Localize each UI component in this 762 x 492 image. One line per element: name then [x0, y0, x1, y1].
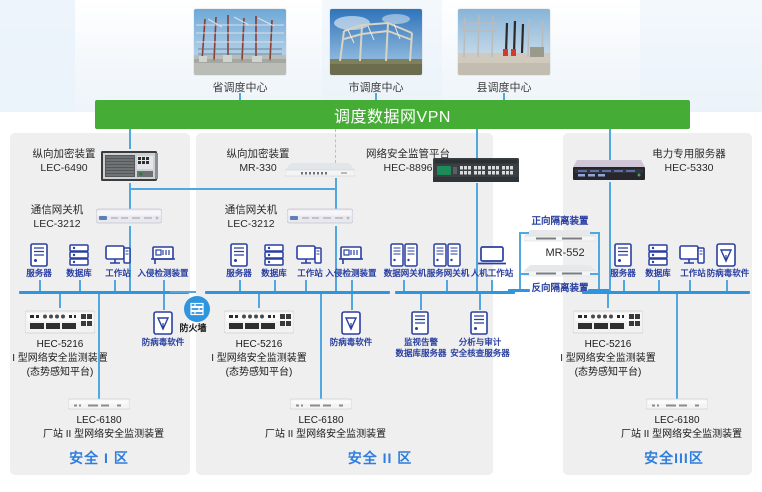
label-z2-gateway: 通信网关机 LEC-3212 — [203, 203, 299, 231]
device-image-hec-5216-z2 — [224, 310, 294, 334]
link-vpn-to-z2-crypto-dashed — [335, 129, 336, 163]
photo-county-dispatch-center — [458, 9, 550, 75]
antivirus-icon[interactable] — [152, 311, 174, 335]
zone-label-1: 安全 I 区 — [59, 448, 139, 468]
link-z1-to-z2-crypto-bus — [129, 188, 335, 190]
vpn-label: 调度数据网VPN — [334, 103, 451, 127]
label-z2-hec5216: HEC-5216 I 型网络安全监测装置 (态势感知平台) — [204, 338, 314, 380]
antivirus-icon[interactable] — [715, 243, 737, 267]
icon-label-intrusion-z1: 入侵检测装置 — [128, 268, 198, 279]
device-image-lec-6180-z2 — [290, 398, 352, 410]
label-z1-lec6180: LEC-6180 厂站 II 型网络安全监测装置 — [43, 414, 155, 442]
device-image-lec-3212-z1 — [96, 206, 162, 226]
label-z2-platform: 网络安全监管平台 HEC-8896 — [348, 147, 468, 175]
workstation-icon[interactable] — [105, 244, 131, 267]
database-icon[interactable] — [263, 243, 285, 267]
link-bus-to-z3-hec5216 — [607, 294, 609, 308]
laptop-icon[interactable] — [478, 246, 506, 266]
dual-server-icon[interactable] — [433, 243, 461, 267]
label-z3-lec6180: LEC-6180 厂站 II 型网络安全监测装置 — [621, 414, 733, 442]
icon-label-antivirus-z3: 防病毒软件 — [702, 268, 754, 279]
vpn-backbone-bar: 调度数据网VPN — [95, 100, 690, 129]
label-mr-552: MR-552 — [515, 247, 615, 259]
link-z1-bus-to-firewall — [170, 291, 196, 293]
link-bus-to-z3-lec6180 — [676, 294, 678, 400]
link-bus-to-z2-lec6180 — [320, 294, 322, 400]
device-image-mr-552-reverse — [524, 263, 596, 277]
link-bus-to-monitor-db — [420, 294, 422, 310]
server-icon[interactable] — [469, 311, 489, 335]
link-bus-to-z1-antivirus — [163, 294, 165, 310]
server-icon[interactable] — [613, 243, 633, 267]
iso-left-rail — [519, 232, 521, 274]
label-z2-lec6180: LEC-6180 厂站 II 型网络安全监测装置 — [265, 414, 377, 442]
workstation-icon[interactable] — [296, 244, 322, 267]
device-image-lec-6180-z3 — [646, 398, 708, 410]
link-bus-to-z2-antivirus — [351, 294, 353, 310]
device-image-hec-5216-z1 — [25, 310, 95, 334]
zone-label-2: 安全 II 区 — [340, 448, 420, 468]
device-image-mr-552-forward — [524, 228, 596, 242]
firewall-icon[interactable] — [184, 296, 210, 322]
label-forward-isolation: 正向隔离装置 — [505, 213, 615, 227]
intrusion-detection-icon[interactable] — [338, 246, 364, 266]
label-z1-crypto: 纵向加密装置 LEC-6490 — [9, 147, 119, 175]
server-icon[interactable] — [29, 243, 49, 267]
link-bus-to-z1-lec6180 — [98, 294, 100, 400]
intrusion-detection-icon[interactable] — [150, 246, 176, 266]
icon-label-hmi-workstation: 人机工作站 — [466, 268, 518, 279]
bus-zone-2-right — [395, 291, 515, 294]
link-bus-to-z1-hec5216 — [59, 294, 61, 308]
iso-bus-stub-left — [508, 289, 530, 292]
device-image-lec-6180-z1 — [68, 398, 130, 410]
antivirus-icon[interactable] — [340, 311, 362, 335]
label-z2-crypto: 纵向加密装置 MR-330 — [203, 147, 313, 175]
photo-provincial-dispatch-center — [194, 9, 286, 75]
link-bus-to-audit-server — [479, 294, 481, 310]
zone-label-3: 安全III区 — [634, 448, 714, 468]
icon-label-antivirus-z1: 防病毒软件 — [138, 337, 188, 348]
link-bus-to-z2-hec5216 — [258, 294, 260, 308]
database-icon[interactable] — [647, 243, 669, 267]
server-icon[interactable] — [410, 311, 430, 335]
server-icon[interactable] — [229, 243, 249, 267]
icon-label-intrusion-z2: 入侵检测装置 — [316, 268, 386, 279]
label-z3-server: 电力专用服务器 HEC-5330 — [629, 147, 749, 175]
link-vpn-to-z1-crypto — [129, 129, 131, 149]
label-z3-hec5216: HEC-5216 I 型网络安全监测装置 (态势感知平台) — [553, 338, 663, 380]
icon-label-audit-server: 分析与审计 安全核查服务器 — [449, 337, 511, 359]
photo-municipal-dispatch-center — [330, 9, 422, 75]
workstation-icon[interactable] — [679, 244, 705, 267]
device-image-hec-5216-z3 — [573, 310, 643, 334]
dual-server-icon[interactable] — [390, 243, 418, 267]
iso-fwd-left-tap — [519, 232, 529, 234]
icon-label-monitor-db: 监视告警 数据库服务器 — [390, 337, 452, 359]
database-icon[interactable] — [68, 243, 90, 267]
link-z2-gateway-to-bus — [335, 226, 337, 292]
icon-label-antivirus-z2: 防病毒软件 — [326, 337, 376, 348]
iso-rev-left-tap — [519, 273, 529, 275]
bus-zone-2-left — [205, 291, 390, 294]
icon-label-firewall: 防火墙 — [176, 323, 210, 334]
label-z1-gateway: 通信网关机 LEC-3212 — [9, 203, 105, 231]
iso-fwd-right-tap — [590, 232, 599, 234]
isolation-gap-strip — [497, 133, 563, 475]
